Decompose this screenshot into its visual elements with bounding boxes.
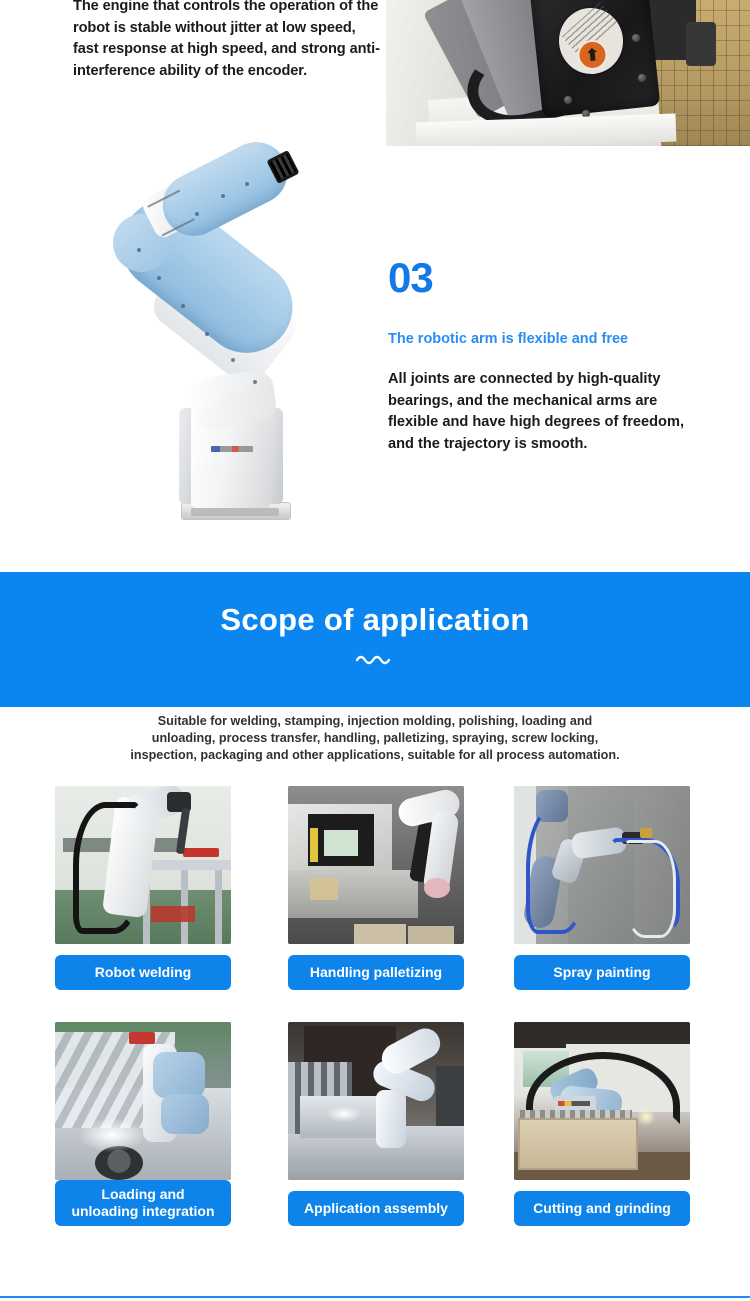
six-axis-robot-arm-illustration [95, 152, 345, 542]
feature-number: 03 [388, 255, 718, 301]
banner-title: Scope of application [0, 602, 750, 638]
feature-03-text-block: 03 The robotic arm is flexible and free … [388, 255, 718, 455]
feature-03-section: 03 The robotic arm is flexible and free … [0, 152, 750, 557]
card-caption: Robot welding [55, 955, 231, 990]
intro-paragraph: The engine that controls the operation o… [73, 0, 383, 82]
bottom-divider [0, 1296, 750, 1298]
card-caption: Loading and unloading integration [55, 1180, 231, 1226]
loading-unloading-photo [55, 1022, 231, 1180]
cutting-grinding-photo [514, 1022, 690, 1180]
feature-body: All joints are connected by high-quality… [388, 369, 710, 455]
card-caption: Handling palletizing [288, 955, 464, 990]
product-page: The engine that controls the operation o… [0, 0, 750, 1301]
card-caption: Application assembly [288, 1191, 464, 1226]
scope-banner: Scope of application [0, 572, 750, 707]
handling-palletizing-photo [288, 786, 464, 944]
intro-section: The engine that controls the operation o… [0, 0, 750, 152]
wave-divider-icon [355, 652, 395, 666]
application-card-application-assembly[interactable]: Application assembly [288, 1022, 464, 1226]
spray-painting-photo [514, 786, 690, 944]
application-card-loading-unloading[interactable]: Loading and unloading integration [55, 1022, 231, 1226]
application-card-cutting-grinding[interactable]: Cutting and grinding [514, 1022, 690, 1226]
card-caption: Spray painting [514, 955, 690, 990]
application-card-robot-welding[interactable]: Robot welding [55, 786, 231, 990]
robot-welding-photo [55, 786, 231, 944]
scope-description: Suitable for welding, stamping, injectio… [130, 713, 620, 765]
servo-motor-encoder-photo [386, 0, 750, 146]
feature-subtitle: The robotic arm is flexible and free [388, 329, 718, 349]
application-assembly-photo [288, 1022, 464, 1180]
application-card-spray-painting[interactable]: Spray painting [514, 786, 690, 990]
warning-label-icon [576, 38, 609, 71]
application-card-handling-palletizing[interactable]: Handling palletizing [288, 786, 464, 990]
card-caption: Cutting and grinding [514, 1191, 690, 1226]
